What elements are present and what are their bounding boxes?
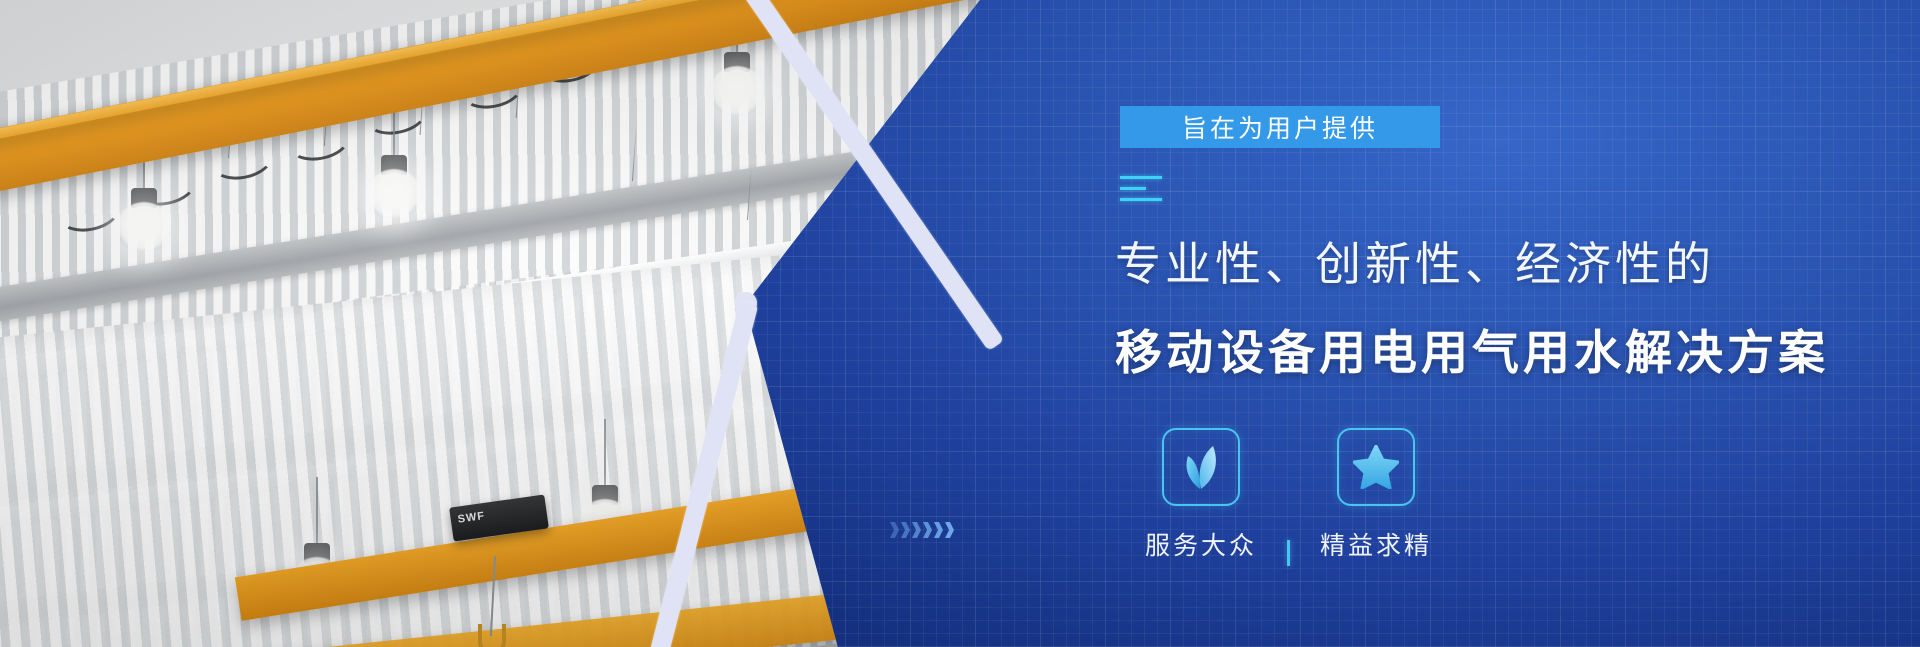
feature-icon-box [1162,428,1240,506]
feature-label: 精益求精 [1320,526,1432,562]
headline-line-2: 移动设备用电用气用水解决方案 [1115,314,1829,383]
tagline-badge-text: 旨在为用户提供 [1182,109,1378,145]
leaf-icon [1179,444,1223,490]
feature-label: 服务大众 [1145,526,1257,562]
chevron-right-group-icon [890,522,954,538]
feature-item-excellence[interactable]: 精益求精 [1290,428,1462,562]
feature-icon-box [1337,428,1415,506]
star-icon [1353,445,1399,489]
three-line-mark-icon [1120,176,1180,210]
banner-content: 旨在为用户提供 专业性、创新性、经济性的 移动设备用电用气用水解决方案 [0,0,1920,647]
feature-list: 服务大众 精益求精 [1115,428,1462,566]
hero-banner: 旨在为用户提供 专业性、创新性、经济性的 移动设备用电用气用水解决方案 [0,0,1920,647]
headline-line-1: 专业性、创新性、经济性的 [1115,228,1715,294]
tagline-badge: 旨在为用户提供 [1120,106,1440,148]
feature-item-service[interactable]: 服务大众 [1115,428,1287,562]
